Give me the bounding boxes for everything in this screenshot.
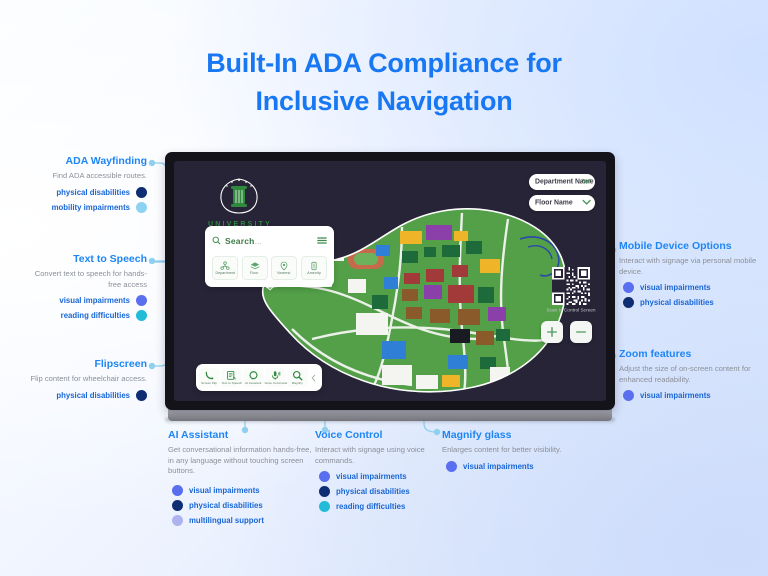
annotation-description: Enlarges content for better visibility. (442, 445, 567, 456)
tag-dot (136, 202, 147, 213)
tag-item: visual impairments (22, 295, 147, 306)
annotation-heading: Voice Control (315, 429, 440, 442)
annotation-tags: visual impairments (446, 461, 567, 472)
annotation-description: Interact with signage using voice comman… (315, 445, 440, 466)
tag-item: mobility impairments (22, 202, 147, 213)
hamburger-menu-icon[interactable] (317, 232, 327, 250)
annotation-ada-wayfinding: ADA Wayfinding Find ADA accessible route… (22, 155, 147, 217)
annotation-heading: Text to Speech (22, 253, 147, 266)
qr-code-panel[interactable]: Scan to Control Screen (552, 267, 590, 312)
chevron-left-icon[interactable] (309, 374, 319, 382)
tag-item: visual impairments (319, 471, 440, 482)
search-input[interactable]: Search... (225, 236, 313, 246)
tag-dot (172, 500, 183, 511)
connector-dot (149, 258, 155, 264)
tag-item: reading difficulties (319, 501, 440, 512)
search-placeholder-dots: ... (255, 236, 263, 246)
tile-label: Floor (250, 271, 259, 275)
tag-item: visual impairments (623, 282, 759, 293)
tile-floor[interactable]: Floor (242, 256, 268, 280)
qr-code-icon (552, 267, 590, 305)
annotation-heading: Zoom features (619, 348, 759, 361)
page-title-line1: Built-In ADA Compliance for (206, 48, 562, 78)
tag-dot (319, 501, 330, 512)
annotation-description: Get conversational information hands-fre… (168, 445, 318, 477)
chevron-down-icon[interactable] (264, 278, 275, 296)
kiosk-display: UNIVERSITY Search... (165, 152, 615, 428)
kiosk-bezel: UNIVERSITY Search... (165, 152, 615, 410)
floor-name-dropdown[interactable]: Floor Name (529, 195, 595, 211)
map-pin-icon (279, 261, 289, 271)
tag-dot (319, 471, 330, 482)
tag-item: physical disabilities (319, 486, 440, 497)
tag-label: multilingual support (189, 516, 264, 525)
tag-dot (136, 390, 147, 401)
tag-label: reading difficulties (61, 311, 130, 320)
tag-label: physical disabilities (56, 391, 130, 400)
annotation-heading: Flipscreen (22, 358, 147, 371)
connector-dot (149, 160, 155, 166)
tag-label: mobility impairments (52, 203, 130, 212)
annotation-tags: visual impairments (623, 390, 759, 401)
dropdown-label: Floor Name (535, 199, 573, 207)
tile-label: Department (215, 271, 235, 275)
toolbar-label: Text to Speech (221, 382, 242, 386)
tile-amenity[interactable]: Amenity (301, 256, 327, 280)
toolbar-label: Voice Command (264, 382, 287, 386)
tag-label: physical disabilities (189, 501, 263, 510)
search-row[interactable]: Search... (212, 232, 327, 250)
tag-label: physical disabilities (336, 487, 410, 496)
floor-layers-icon (250, 261, 260, 271)
accessibility-toolbar[interactable]: Screen Flip Text to Speech (196, 364, 322, 391)
annotation-tags: visual impairments reading difficulties (22, 295, 147, 321)
tag-dot (172, 485, 183, 496)
search-category-tiles[interactable]: Department Floor (212, 256, 327, 280)
zoom-out-button[interactable] (570, 321, 592, 343)
microphone-icon (270, 370, 281, 381)
toolbar-label: AI Assistant (245, 382, 261, 386)
poster-canvas: Built-In ADA Compliance for Inclusive Na… (0, 0, 768, 576)
annotation-tags: visual impairments physical disabilities… (172, 485, 318, 526)
tag-label: visual impairments (640, 391, 711, 400)
tag-label: physical disabilities (640, 298, 714, 307)
text-to-speech-icon (226, 370, 237, 381)
tag-dot (172, 515, 183, 526)
tag-dot (319, 486, 330, 497)
chevron-down-icon (582, 177, 591, 186)
tag-dot (623, 297, 634, 308)
zoom-controls[interactable] (541, 321, 592, 343)
tag-dot (623, 390, 634, 401)
annotation-heading: Mobile Device Options (619, 240, 759, 253)
tag-item: multilingual support (172, 515, 318, 526)
search-icon (212, 232, 221, 250)
annotation-mobile-device-options: Mobile Device Options Interact with sign… (619, 240, 759, 312)
tag-item: physical disabilities (172, 500, 318, 511)
annotation-flipscreen: Flipscreen Flip content for wheelchair a… (22, 358, 147, 405)
page-title-line2: Inclusive Navigation (0, 82, 768, 120)
annotation-heading: ADA Wayfinding (22, 155, 147, 168)
tag-item: visual impairments (172, 485, 318, 496)
connector-dot (149, 363, 155, 369)
tag-label: visual impairments (59, 296, 130, 305)
tag-label: visual impairments (640, 283, 711, 292)
chevron-down-icon (582, 198, 591, 207)
toolbar-label: Screen Flip (202, 382, 218, 386)
tag-item: physical disabilities (22, 187, 147, 198)
search-panel[interactable]: Search... Department (205, 226, 334, 287)
flipscreen-icon (204, 370, 215, 381)
crest-icon (217, 175, 261, 215)
page-title: Built-In ADA Compliance for Inclusive Na… (0, 44, 768, 120)
tag-dot (136, 295, 147, 306)
search-placeholder: Search (225, 236, 255, 246)
plus-icon (546, 326, 558, 338)
qr-caption: Scan to Control Screen (544, 307, 597, 313)
annotation-description: Flip content for wheelchair access. (22, 374, 147, 385)
annotation-heading: AI Assistant (168, 429, 318, 442)
tile-nearest[interactable]: Nearest (271, 256, 297, 280)
department-icon (220, 261, 230, 271)
annotation-description: Convert text to speech for hands-free ac… (22, 269, 147, 290)
tag-label: physical disabilities (56, 188, 130, 197)
tag-label: visual impairments (336, 472, 407, 481)
department-name-dropdown[interactable]: Department Name (529, 174, 595, 190)
annotation-voice-control: Voice Control Interact with signage usin… (315, 429, 440, 516)
tag-dot (136, 310, 147, 321)
tile-department[interactable]: Department (212, 256, 238, 280)
annotation-description: Interact with signage via personal mobil… (619, 256, 759, 277)
voice-control-button[interactable]: Voice Command (265, 368, 286, 387)
tag-item: visual impairments (623, 390, 759, 401)
annotation-text-to-speech: Text to Speech Convert text to speech fo… (22, 253, 147, 325)
text-to-speech-button[interactable]: Text to Speech (221, 368, 242, 387)
tag-label: visual impairments (189, 486, 260, 495)
tag-label: visual impairments (463, 462, 534, 471)
annotation-tags: physical disabilities (22, 390, 147, 401)
kiosk-screen: UNIVERSITY Search... (174, 161, 606, 401)
tag-dot (136, 187, 147, 198)
tag-dot (446, 461, 457, 472)
ai-assistant-button[interactable]: AI Assistant (243, 368, 264, 387)
tag-label: reading difficulties (336, 502, 405, 511)
university-logo: UNIVERSITY (208, 175, 270, 227)
tag-item: visual impairments (446, 461, 567, 472)
tag-dot (623, 282, 634, 293)
toolbar-label: Magnify (292, 382, 303, 386)
annotation-description: Find ADA accessible routes. (22, 171, 147, 182)
flipscreen-button[interactable]: Screen Flip (199, 368, 220, 387)
annotation-tags: visual impairments physical disabilities… (319, 471, 440, 512)
tag-item: reading difficulties (22, 310, 147, 321)
annotation-magnify-glass: Magnify glass Enlarges content for bette… (442, 429, 567, 476)
annotation-zoom-features: Zoom features Adjust the size of on-scre… (619, 348, 759, 405)
annotation-tags: visual impairments physical disabilities (623, 282, 759, 308)
annotation-tags: physical disabilities mobility impairmen… (22, 187, 147, 213)
zoom-in-button[interactable] (541, 321, 563, 343)
annotation-description: Adjust the size of on-screen content for… (619, 364, 759, 385)
ai-assistant-icon (248, 370, 259, 381)
magnify-button[interactable]: Magnify (287, 368, 308, 387)
amenity-icon (309, 261, 319, 271)
magnify-glass-icon (292, 370, 303, 381)
minus-icon (575, 326, 587, 338)
annotation-heading: Magnify glass (442, 429, 567, 442)
annotation-ai-assistant: AI Assistant Get conversational informat… (168, 429, 318, 530)
tag-item: physical disabilities (623, 297, 759, 308)
tile-label: Amenity (307, 271, 321, 275)
tile-label: Nearest (278, 271, 291, 275)
tag-item: physical disabilities (22, 390, 147, 401)
